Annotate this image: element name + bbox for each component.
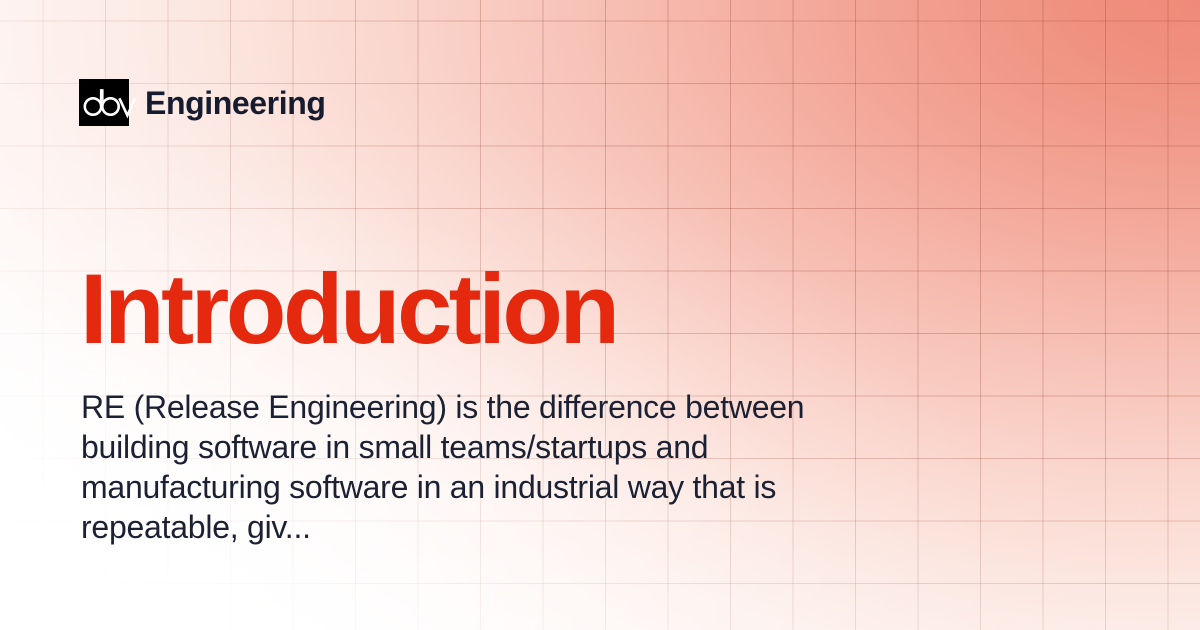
brand-lockup: Engineering bbox=[79, 79, 326, 126]
dbv-logo-icon bbox=[79, 79, 129, 126]
page-summary: RE (Release Engineering) is the differen… bbox=[81, 387, 826, 547]
og-card: Engineering Introduction RE (Release Eng… bbox=[0, 0, 1200, 630]
card-content: Engineering Introduction RE (Release Eng… bbox=[0, 0, 1200, 630]
page-title: Introduction bbox=[80, 259, 617, 358]
brand-name: Engineering bbox=[145, 87, 326, 119]
